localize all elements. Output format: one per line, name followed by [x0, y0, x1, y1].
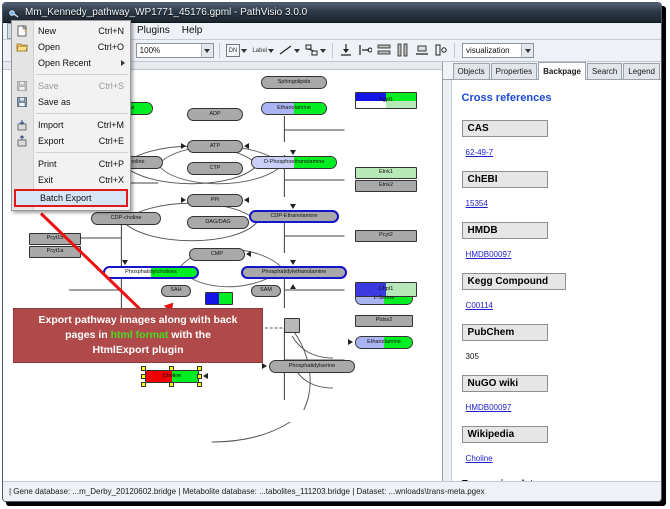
node-atp[interactable]: ATP [187, 140, 243, 153]
node-cmp[interactable]: CMP [189, 248, 245, 261]
cross-references-heading: Cross references [462, 92, 651, 104]
xref-source-label: NuGO wiki [462, 375, 548, 392]
menu-item-label: Save as [38, 97, 71, 107]
node-phosphatidylserine[interactable]: Phosphatidylserine [269, 360, 355, 373]
xref-value-link[interactable]: C00114 [466, 301, 493, 310]
chevron-down-icon[interactable] [294, 49, 300, 53]
xref-entry-hmdb: HMDB HMDB00097 [462, 222, 651, 271]
menu-item-exit[interactable]: Exit Ctrl+X [12, 172, 130, 188]
side-panel-scrollbar[interactable] [443, 80, 452, 502]
node-sah[interactable]: SAH [161, 285, 191, 297]
node-label: Ethanolamine [277, 106, 311, 112]
menu-item-accelerator: Ctrl+E [99, 136, 124, 146]
arrow-into-cmp [246, 251, 251, 257]
save-as-icon [16, 96, 28, 108]
node-sphingolipids[interactable]: Sphingolipids [261, 76, 327, 89]
menu-item-label: Print [38, 159, 57, 169]
gene-label: Etnk1 [379, 170, 393, 176]
arrow-into-ethanolamine-2 [348, 339, 353, 345]
menu-item-label: New [38, 26, 56, 36]
chevron-down-icon[interactable] [320, 49, 326, 53]
selection-handle-s[interactable] [169, 382, 174, 387]
visualization-combobox[interactable]: visualization [462, 43, 534, 58]
node-label: CDP-Ethanolamine [270, 214, 317, 220]
menu-item-export[interactable]: Export Ctrl+E [12, 133, 130, 149]
chevron-right-icon [121, 60, 125, 66]
menu-item-label: Import [38, 120, 64, 130]
same-width-icon [434, 43, 448, 59]
tab-properties[interactable]: Properties [491, 63, 537, 79]
menu-item-import[interactable]: Import Ctrl+M [12, 117, 130, 133]
align-left-button[interactable] [357, 43, 373, 59]
selection-handle-ne[interactable] [197, 366, 202, 371]
node-label: O-Phosphoethanolamine [264, 160, 325, 166]
distribute-vertical-button[interactable] [376, 43, 392, 59]
file-menu-dropdown[interactable]: New Ctrl+N Open Ctrl+O Open Recent Save [11, 20, 131, 211]
gene-box-etnk1[interactable]: Etnk1 [355, 167, 417, 179]
menu-item-label: Open Recent [38, 58, 91, 68]
tab-search[interactable]: Search [587, 63, 622, 79]
menu-item-label: Export [38, 136, 64, 146]
annotation-callout: Export pathway images along with back pa… [13, 308, 263, 363]
align-top-icon [339, 43, 353, 59]
node-label: ADP [209, 112, 220, 118]
window-title: Mm_Kennedy_pathway_WP1771_45176.gpml - P… [25, 7, 307, 18]
save-disk-icon [16, 80, 28, 92]
pathvisio-app-icon [8, 7, 20, 19]
gene-box-small-unlabeled[interactable] [284, 318, 300, 333]
arrow-into-atp-right [244, 143, 249, 149]
arrow-to-phosphatidylcholines [122, 260, 128, 265]
menu-item-accelerator: Ctrl+M [97, 120, 124, 130]
arrow-into-phosphatidylserine [262, 363, 267, 369]
chevron-down-icon[interactable] [201, 44, 213, 57]
gene-label: Chpt1 [379, 287, 394, 293]
selection-handle-sw[interactable] [141, 382, 146, 387]
selection-handle-se[interactable] [197, 382, 202, 387]
backpage-content: Cross references CAS 62-49-7 ChEBI 15354… [452, 80, 661, 502]
arrow-into-ppi-left [181, 197, 186, 203]
node-ethanolamine-2[interactable]: Ethanolamine [355, 336, 413, 349]
distribute-vertical-icon [377, 43, 391, 59]
gene-label: Pcyt1b [47, 236, 64, 242]
distribute-horizontal-icon [396, 43, 410, 59]
node-label: CDP-choline [111, 216, 142, 222]
gene-box-pcyt2[interactable]: Pcyt2 [355, 230, 417, 242]
menu-separator [36, 74, 128, 75]
arrow-into-ppi-right [244, 197, 249, 203]
xref-value-link[interactable]: HMDB00097 [466, 403, 512, 412]
tab-backpage[interactable]: Backpage [538, 62, 586, 80]
xref-source-label: Wikipedia [462, 426, 548, 443]
selection-handle-nw[interactable] [141, 366, 146, 371]
visualization-value: visualization [466, 46, 521, 55]
node-label: Phosphatidylcholines [125, 270, 177, 276]
xref-entry-kegg-compound: Kegg Compound C00114 [462, 273, 651, 322]
node-label: Phosphatidylserine [289, 364, 335, 370]
node-ctp[interactable]: CTP [187, 162, 243, 175]
menu-item-print[interactable]: Print Ctrl+P [12, 156, 130, 172]
same-width-button[interactable] [433, 43, 449, 59]
gene-box-pemt[interactable] [205, 292, 233, 305]
gene-label: Pcyt1a [47, 249, 64, 255]
node-label: L-Serine [374, 296, 395, 302]
arrow-into-atp-left [181, 143, 186, 149]
gene-label: Sgpl1 [379, 98, 393, 104]
callout-line-2-post: with the [168, 329, 211, 341]
node-ethanolamine-1[interactable]: Ethanolamine [261, 102, 327, 115]
status-bar-text: | Gene database: ...m_Derby_20120602.bri… [9, 487, 485, 496]
xref-entry-pubchem: PubChem 305 [462, 324, 651, 373]
node-label: ATP [210, 144, 220, 150]
distribute-horizontal-button[interactable] [395, 43, 411, 59]
gene-label: Pcyt2 [379, 233, 393, 239]
callout-line-2-green: html format [111, 329, 169, 341]
node-label: DAG/DAG [205, 220, 230, 226]
line-tool-button[interactable] [278, 43, 301, 59]
node-label: Sphingolipids [278, 80, 311, 86]
menu-item-save-as[interactable]: Save as [12, 94, 130, 110]
arrow-to-phosphatidylethanolamine [290, 260, 296, 265]
node-phosphatidylethanolamine[interactable]: Phosphatidylethanolamine [241, 266, 347, 279]
xref-source-label: CAS [462, 120, 548, 137]
tab-objects[interactable]: Objects [453, 63, 490, 79]
stack-bottom-button[interactable] [414, 43, 430, 59]
menu-item-accelerator: Ctrl+N [98, 26, 124, 36]
label-icon: Label [252, 48, 267, 54]
xref-entry-chebi: ChEBI 15354 [462, 171, 651, 220]
align-left-icon [358, 43, 372, 59]
pathvisio-window: Mm_Kennedy_pathway_WP1771_45176.gpml - P… [2, 2, 662, 502]
gene-label: Etnk2 [379, 183, 393, 189]
menu-plugins[interactable]: Plugins [131, 23, 176, 39]
menu-item-label: Save [38, 81, 59, 91]
gene-box-ptdss2[interactable]: Ptdss2 [355, 315, 413, 327]
shape-icon [305, 44, 319, 58]
gene-box-sgpl1[interactable]: Sgpl1 [355, 92, 417, 109]
node-label: SAH [170, 288, 181, 294]
menu-item-accelerator: Ctrl+O [98, 42, 124, 52]
node-label: Ethanolamine [367, 340, 401, 346]
xref-source-label: HMDB [462, 222, 548, 239]
node-cdp-ethanolamine[interactable]: CDP-Ethanolamine [249, 210, 339, 223]
callout-line-1: Export pathway images along with back [20, 313, 256, 328]
stack-bottom-icon [415, 43, 429, 59]
tab-legend[interactable]: Legend [623, 63, 660, 79]
line-icon [279, 44, 293, 58]
menu-item-save[interactable]: Save Ctrl+S [12, 78, 130, 94]
new-file-icon [16, 25, 28, 37]
menu-item-accelerator: Ctrl+S [99, 81, 124, 91]
node-adp[interactable]: ADP [187, 108, 243, 121]
status-bar: | Gene database: ...m_Derby_20120602.bri… [3, 481, 662, 501]
node-label: PPi [211, 198, 220, 204]
export-icon [16, 135, 28, 147]
datanode-icon: DN [226, 44, 241, 57]
arrow-to-cdp-ethanolamine [290, 204, 296, 209]
menu-item-open[interactable]: Open Ctrl+O [12, 39, 130, 55]
gene-fill-split [206, 293, 232, 304]
callout-line-2: pages in html format with the [20, 328, 256, 343]
label-tool-button[interactable]: Label [251, 43, 275, 59]
toolbar-separator [219, 43, 220, 58]
xref-value-text: 305 [466, 352, 479, 361]
menu-item-label: Exit [38, 175, 53, 185]
selection-handle-n[interactable] [169, 366, 174, 371]
node-label: CTP [210, 166, 221, 172]
menu-item-batch-export[interactable]: Batch Export [14, 189, 128, 207]
screenshot-root: Mm_Kennedy_pathway_WP1771_45176.gpml - P… [0, 0, 670, 509]
menu-item-accelerator: Ctrl+P [99, 159, 124, 169]
xref-value-link[interactable]: HMDB00097 [466, 250, 512, 259]
node-label: SAM [260, 288, 272, 294]
node-label: Phosphatidylethanolamine [262, 270, 327, 276]
toolbar-separator [332, 43, 333, 58]
menu-item-accelerator: Ctrl+X [99, 175, 124, 185]
node-sam[interactable]: SAM [251, 285, 281, 297]
menu-help[interactable]: Help [176, 23, 209, 39]
gene-label: Ptdss2 [376, 318, 393, 324]
xref-value-link[interactable]: 62-49-7 [466, 148, 494, 157]
zoom-combobox[interactable]: 100% [136, 43, 214, 58]
zoom-value: 100% [140, 46, 201, 55]
chevron-down-icon[interactable] [268, 49, 274, 53]
side-panel-tabstrip: Objects Properties Backpage Search Legen… [443, 62, 661, 80]
menu-item-new[interactable]: New Ctrl+N [12, 23, 130, 39]
arrow-into-choline-bottom [203, 373, 208, 379]
xref-source-label: PubChem [462, 324, 548, 341]
xref-entry-nugo-wiki: NuGO wiki HMDB00097 [462, 375, 651, 424]
side-panel: Objects Properties Backpage Search Legen… [443, 62, 661, 502]
node-label: CMP [211, 252, 223, 258]
chevron-down-icon[interactable] [521, 44, 533, 57]
align-top-button[interactable] [338, 43, 354, 59]
menu-separator [36, 113, 128, 114]
menu-separator [36, 152, 128, 153]
chevron-down-icon[interactable] [241, 49, 247, 53]
xref-entry-cas: CAS 62-49-7 [462, 120, 651, 169]
shape-tool-button[interactable] [304, 43, 327, 59]
xref-value-link[interactable]: Choline [466, 454, 493, 463]
menu-item-label: Batch Export [40, 193, 92, 203]
arrow-to-o-phosphoethanolamine [290, 150, 296, 155]
node-ppi[interactable]: PPi [187, 194, 243, 207]
callout-line-2-pre: pages in [65, 329, 111, 341]
gene-box-etnk2[interactable]: Etnk2 [355, 180, 417, 192]
datanode-tool-button[interactable]: DN [225, 43, 249, 59]
node-cdp-choline[interactable]: CDP-choline [91, 212, 161, 225]
toolbar-separator [454, 43, 455, 58]
xref-source-label: Kegg Compound [462, 273, 566, 290]
node-dag-dag[interactable]: DAG/DAG [187, 216, 249, 229]
node-o-phosphoethanolamine[interactable]: O-Phosphoethanolamine [251, 156, 337, 169]
xref-source-label: ChEBI [462, 171, 548, 188]
arrow-from-phosphatidylserine [290, 284, 296, 289]
menu-item-open-recent[interactable]: Open Recent [12, 55, 130, 71]
node-label: Choline [163, 374, 182, 380]
open-folder-icon [16, 41, 28, 53]
callout-line-3: HtmlExport plugin [20, 343, 256, 358]
import-icon [16, 119, 28, 131]
menu-item-label: Open [38, 42, 60, 52]
xref-value-link[interactable]: 15354 [466, 199, 488, 208]
node-phosphatidylcholines[interactable]: Phosphatidylcholines [103, 266, 199, 279]
selection-handle-w[interactable] [141, 374, 146, 379]
xref-entry-wikipedia: Wikipedia Choline [462, 426, 651, 475]
gene-box-pcyt1a[interactable]: Pcyt1a [29, 246, 81, 258]
selection-handle-e[interactable] [197, 374, 202, 379]
